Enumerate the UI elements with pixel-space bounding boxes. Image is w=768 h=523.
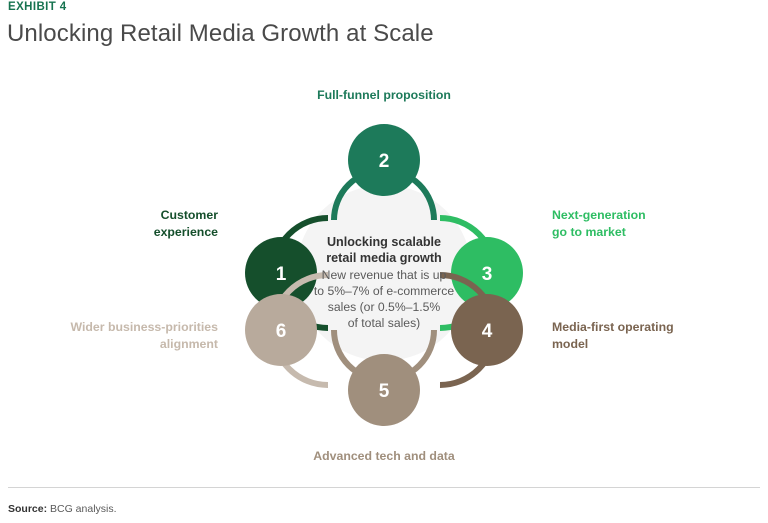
source-note: Source: BCG analysis.	[8, 503, 117, 515]
hub-sub-line4: of total sales)	[348, 316, 420, 330]
exhibit-label: EXHIBIT 4	[8, 1, 67, 13]
node-2-label-line1: Full-funnel proposition	[317, 88, 451, 102]
node-5-label-line1: Advanced tech and data	[313, 449, 455, 463]
node-1-number: 1	[276, 264, 287, 285]
node-4-number: 4	[482, 321, 493, 342]
node-6-number: 6	[276, 321, 287, 342]
node-6-label-line2: alignment	[160, 337, 218, 351]
hub-sub-line2: to 5%–7% of e-commerce	[314, 284, 454, 298]
node-2-number: 2	[379, 151, 390, 172]
node-4-label-line2: model	[552, 337, 588, 351]
hub-sub-line1: New revenue that is up	[322, 268, 447, 282]
node-3-label-line1: Next-generation	[552, 208, 646, 222]
node-5-number: 5	[379, 381, 390, 402]
node-3-number: 3	[482, 264, 493, 285]
source-value: BCG analysis.	[50, 503, 117, 515]
source-label: Source:	[8, 503, 47, 515]
hub-sub-line3: sales (or 0.5%–1.5%	[328, 300, 441, 314]
hub-title-line2: retail media growth	[326, 251, 441, 265]
page-title: Unlocking Retail Media Growth at Scale	[7, 20, 434, 48]
node-1-label-line2: experience	[154, 225, 218, 239]
node-6-label-line1: Wider business-priorities	[71, 320, 219, 334]
footer-divider	[8, 487, 760, 488]
node-3-label-line2: go to market	[552, 225, 626, 239]
node-4-label-line1: Media-first operating	[552, 320, 674, 334]
node-1-label-line1: Customer	[161, 208, 219, 222]
hub-title-line1: Unlocking scalable	[327, 235, 441, 249]
hub-and-spoke-diagram: 1 Customer experience 2 Full-funnel prop…	[0, 60, 768, 472]
